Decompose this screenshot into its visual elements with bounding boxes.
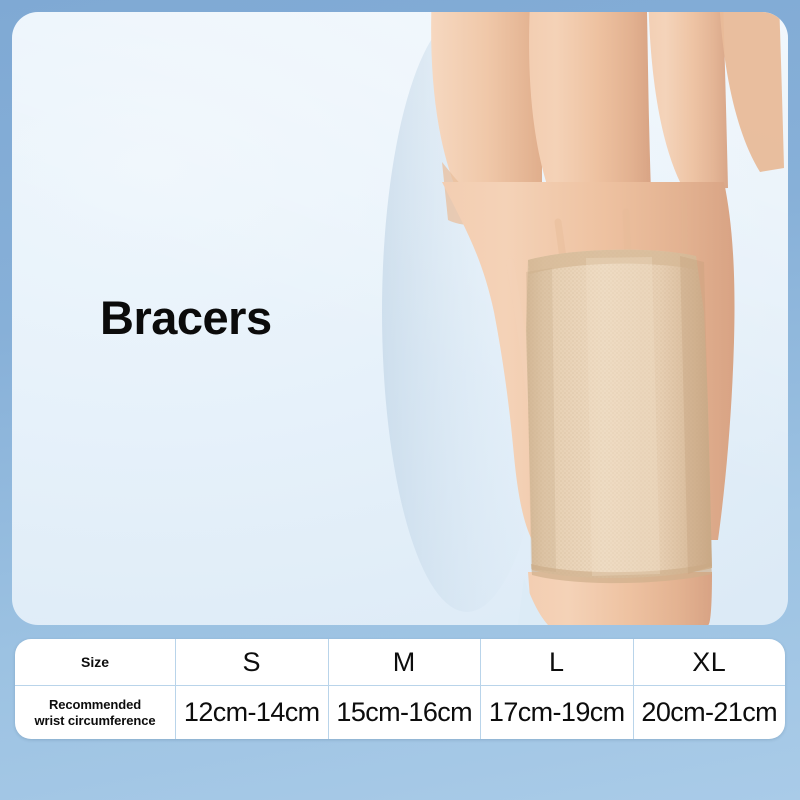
table-header-size-m: M bbox=[328, 639, 481, 685]
table-cell-measurement-xl: 20cm-21cm bbox=[633, 686, 786, 739]
size-chart-table: Size S M L XL Recommended wrist circumfe… bbox=[15, 639, 785, 739]
table-row-label-line1: Recommended bbox=[35, 697, 156, 712]
hero-panel: Bracers bbox=[12, 12, 788, 625]
table-row-label-wrist-circumference: Recommended wrist circumference bbox=[15, 686, 175, 739]
table-row-label-line2: wrist circumference bbox=[35, 713, 156, 728]
table-header-size-s: S bbox=[175, 639, 328, 685]
table-cell-measurement-m: 15cm-16cm bbox=[328, 686, 481, 739]
table-header-size-l: L bbox=[480, 639, 633, 685]
table-cell-measurement-l: 17cm-19cm bbox=[480, 686, 633, 739]
product-image-canvas: Bracers Size S M L XL Recommended wrist … bbox=[0, 0, 800, 800]
table-row-wrist-circumference: Recommended wrist circumference 12cm-14c… bbox=[15, 685, 785, 739]
table-cell-measurement-s: 12cm-14cm bbox=[175, 686, 328, 739]
table-row-size-header: Size S M L XL bbox=[15, 639, 785, 685]
table-header-size-label: Size bbox=[15, 639, 175, 685]
product-title: Bracers bbox=[100, 290, 272, 345]
table-header-size-xl: XL bbox=[633, 639, 786, 685]
